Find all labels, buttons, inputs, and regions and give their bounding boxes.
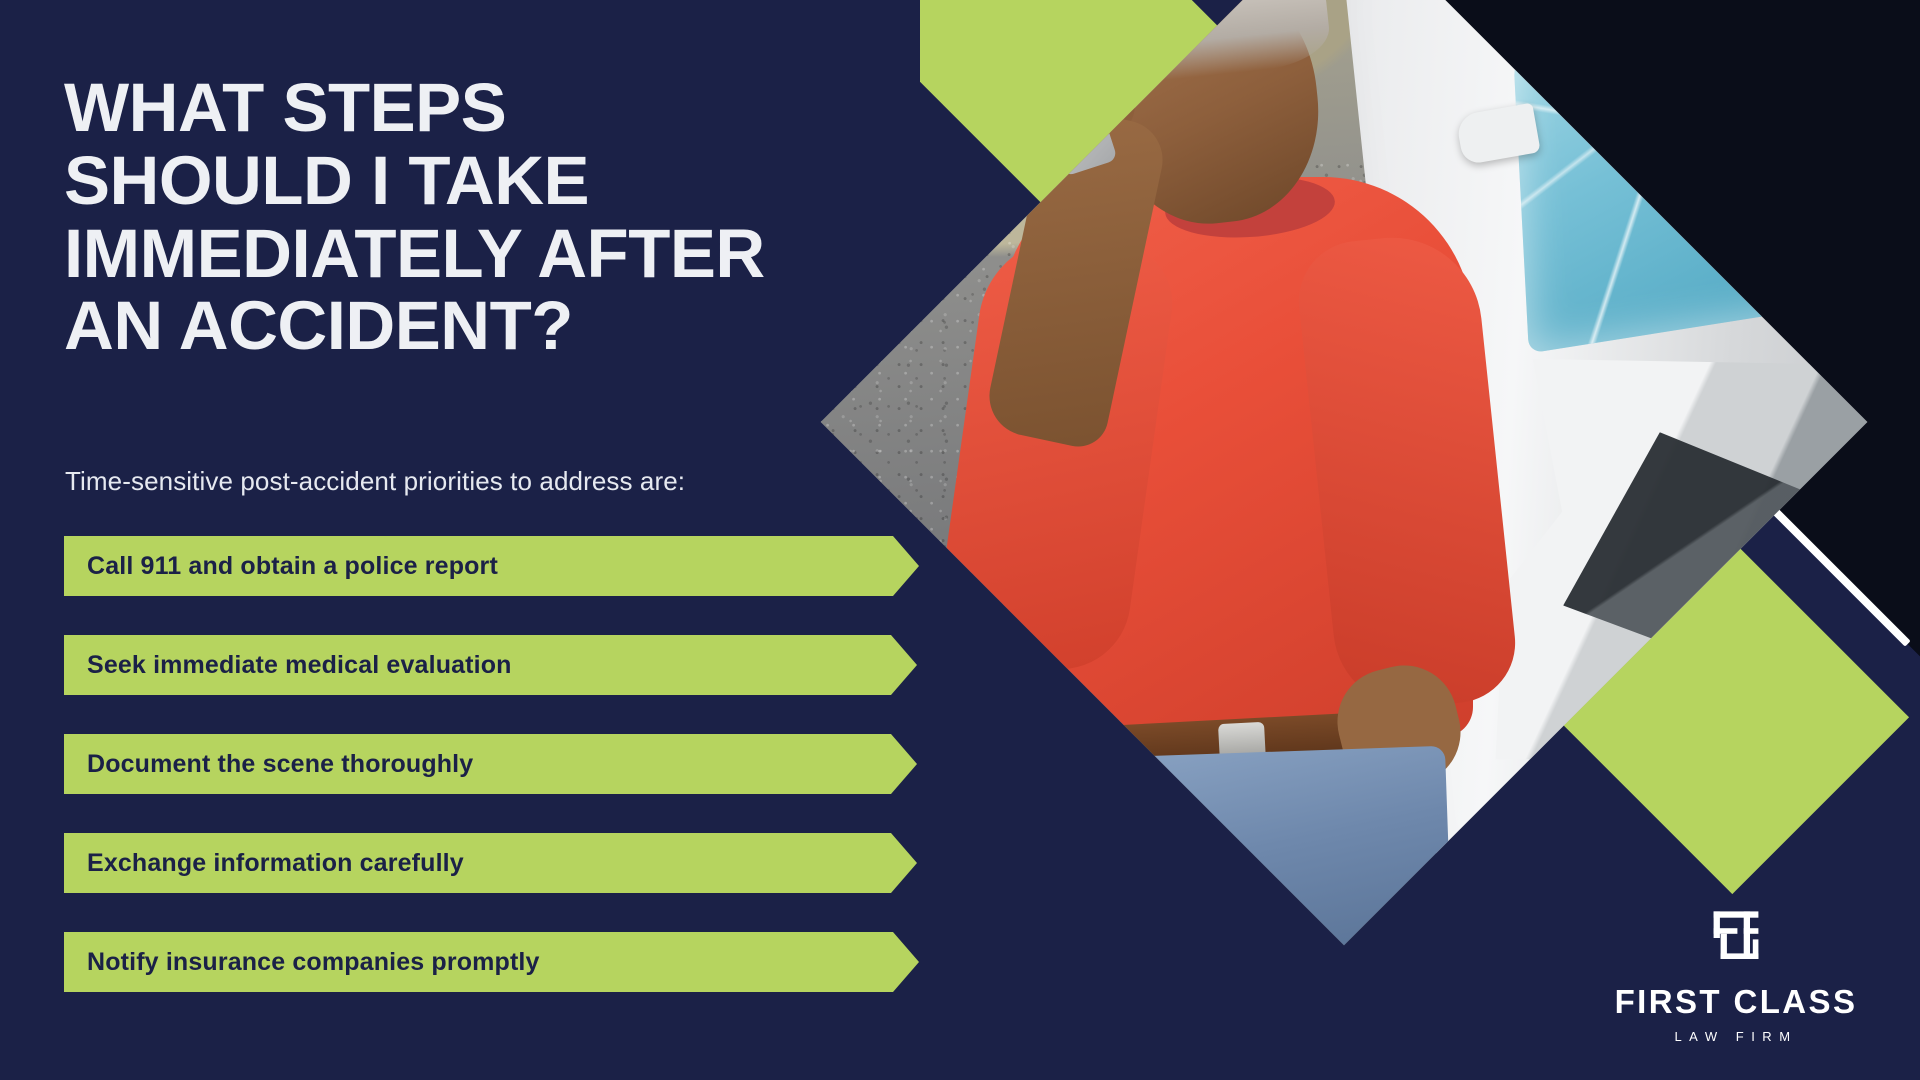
- brand-name: FIRST CLASS: [1600, 985, 1872, 1018]
- main-content: WHAT STEPS SHOULD I TAKE IMMEDIATELY AFT…: [0, 0, 1000, 1080]
- infographic-canvas: WHAT STEPS SHOULD I TAKE IMMEDIATELY AFT…: [0, 0, 1920, 1080]
- steps-list: Call 911 and obtain a police report Seek…: [64, 536, 984, 1031]
- step-label: Document the scene thoroughly: [64, 750, 473, 779]
- brand-tagline: LAW FIRM: [1600, 1029, 1872, 1044]
- subheading: Time-sensitive post-accident priorities …: [65, 466, 685, 497]
- step-label: Notify insurance companies promptly: [64, 948, 540, 977]
- page-title: WHAT STEPS SHOULD I TAKE IMMEDIATELY AFT…: [64, 72, 984, 363]
- step-label: Call 911 and obtain a police report: [64, 552, 498, 581]
- brand-logo: FIRST CLASS LAW FIRM: [1600, 903, 1872, 1044]
- step-banner-4: Exchange information carefully: [64, 833, 917, 893]
- step-label: Seek immediate medical evaluation: [64, 651, 512, 680]
- step-banner-3: Document the scene thoroughly: [64, 734, 917, 794]
- step-banner-1: Call 911 and obtain a police report: [64, 536, 919, 596]
- photo-mobile-phone: [1028, 47, 1118, 177]
- ff-monogram-icon: [1700, 903, 1772, 973]
- photo-man-on-phone: [919, 0, 1539, 945]
- step-banner-5: Notify insurance companies promptly: [64, 932, 919, 992]
- step-banner-2: Seek immediate medical evaluation: [64, 635, 917, 695]
- step-label: Exchange information carefully: [64, 849, 464, 878]
- photo-cracked-windshield: [1513, 1, 1855, 354]
- photo-windshield-cracks: [1513, 1, 1855, 354]
- photo-man-jeans: [1025, 746, 1453, 946]
